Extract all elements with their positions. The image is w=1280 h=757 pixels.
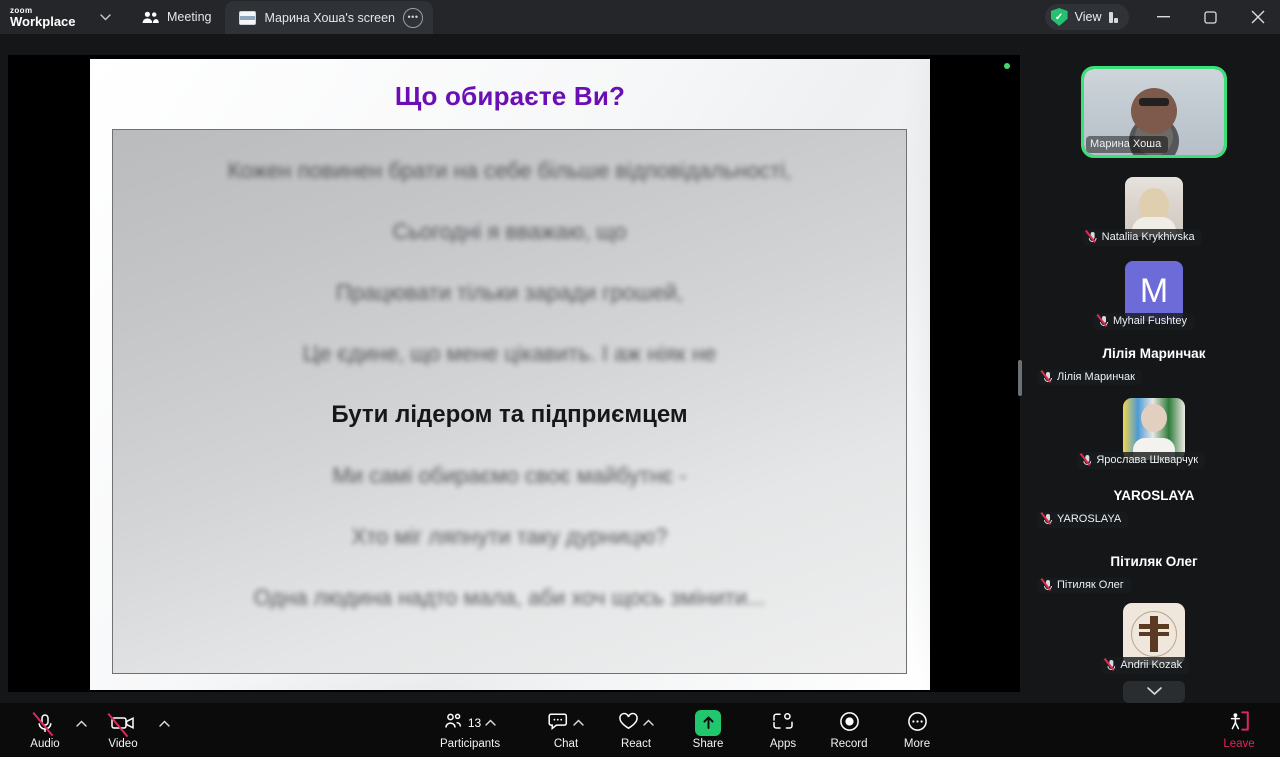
record-label: Record (830, 738, 867, 750)
slide-line: Одна людина надто мала, аби хоч щось змі… (113, 567, 906, 628)
heart-icon (618, 712, 639, 734)
close-button[interactable] (1235, 0, 1280, 34)
participant-name: Myhail Fushtey (1113, 315, 1187, 327)
participant-name-badge: Марина Хоша (1086, 136, 1168, 153)
participant-tile-andrii[interactable]: Andrii Kozak (1123, 603, 1185, 665)
participant-tile-yaroslava[interactable]: Ярослава Шкварчук (1123, 398, 1185, 460)
chat-options-chevron-icon[interactable] (573, 717, 584, 729)
window-controls: ✓ View (1045, 0, 1280, 34)
video-button[interactable]: Video (100, 703, 146, 757)
leave-label: Leave (1223, 738, 1254, 750)
more-button[interactable]: More (894, 703, 940, 757)
participant-name: Пітиляк Олег (1057, 579, 1124, 591)
participant-header-yaroslaya: YAROSLAYA (1028, 488, 1280, 503)
participants-icon (444, 713, 464, 732)
slide-body: Кожен повинен брати на себе більше відпо… (112, 129, 907, 674)
slide-line: Працювати тільки заради грошей, (113, 262, 906, 323)
mute-icon (1043, 371, 1053, 383)
leave-meeting-icon (1227, 711, 1251, 734)
more-label: More (904, 738, 930, 750)
tab-meeting[interactable]: Meeting (128, 0, 225, 34)
slide-line: Сьогодні я вважаю, що (113, 201, 906, 262)
audio-options-chevron-icon[interactable] (58, 711, 104, 735)
zoom-meeting-window: zoom Workplace Meeting Марина Хоша's scr… (0, 0, 1280, 757)
participant-header-liliia: Лілія Маринчак (1028, 346, 1280, 361)
record-icon (839, 711, 860, 735)
view-label: View (1075, 10, 1102, 24)
participant-name-badge: Лілія Маринчак (1038, 370, 1142, 385)
participants-button[interactable]: 13 Participants (440, 703, 500, 757)
video-feed (1125, 177, 1183, 237)
video-thumbnail[interactable]: Марина Хоша (1084, 69, 1224, 155)
react-label: React (621, 738, 651, 750)
record-button[interactable]: Record (826, 703, 872, 757)
chevron-down-icon[interactable] (92, 0, 118, 34)
share-button[interactable]: Share (685, 703, 731, 757)
microphone-muted-icon (36, 713, 54, 733)
presentation-slide: Що обираєте Ви? Кожен повинен брати на с… (90, 59, 930, 690)
tab-screen-share-label: Марина Хоша's screen (264, 11, 395, 25)
title-bar: zoom Workplace Meeting Марина Хоша's scr… (0, 0, 1280, 34)
participant-name: Лілія Маринчак (1057, 371, 1135, 383)
participant-header-pitiliak: Пітиляк Олег (1028, 554, 1280, 569)
participant-name: Nataliia Krykhivska (1102, 231, 1195, 243)
participant-name-badge: Пітиляк Олег (1038, 578, 1131, 593)
video-label: Video (108, 738, 137, 750)
brand-workplace-text: Workplace (10, 15, 92, 29)
participant-name: Марина Хоша (1090, 138, 1161, 150)
apps-icon (772, 712, 794, 733)
maximize-button[interactable] (1188, 0, 1233, 34)
participant-name-badge: Nataliia Krykhivska (1083, 229, 1202, 246)
green-dot-icon (1004, 63, 1010, 69)
avatar-thumbnail[interactable]: M (1125, 261, 1183, 321)
layout-grid-icon (1109, 12, 1119, 23)
rail-scroll-down-button[interactable] (1123, 681, 1185, 703)
mute-icon (1082, 454, 1092, 466)
participant-name: YAROSLAYA (1057, 513, 1121, 525)
mute-icon (1088, 231, 1098, 243)
chat-label: Chat (554, 738, 578, 750)
tab-options-kebab-icon[interactable]: ••• (403, 8, 423, 28)
mute-icon (1106, 659, 1116, 671)
scrollbar-thumb[interactable] (1018, 360, 1022, 396)
slide-line: Ми самі обираємо своє майбутнє - (113, 445, 906, 506)
slide-line: Це єдине, що мене цікавить. І аж ніяк не (113, 323, 906, 384)
screen-share-icon (239, 11, 256, 25)
people-icon (142, 11, 159, 24)
slide-line: Кожен повинен брати на себе більше відпо… (113, 140, 906, 201)
participant-name-badge: Myhail Fushtey (1094, 313, 1194, 330)
chat-button[interactable]: Chat (543, 703, 589, 757)
stage-scrollbar[interactable] (1016, 55, 1024, 692)
shared-screen-stage[interactable]: Що обираєте Ви? Кожен повинен брати на с… (8, 55, 1020, 692)
shield-icon: ✓ (1051, 8, 1068, 26)
react-options-chevron-icon[interactable] (643, 717, 654, 729)
participants-options-chevron-icon[interactable] (485, 717, 496, 729)
avatar-image (1123, 603, 1185, 665)
participant-name: Andrii Kozak (1120, 659, 1182, 671)
view-selector[interactable]: ✓ View (1045, 4, 1129, 30)
mute-icon (1043, 579, 1053, 591)
slide-line-focused: Бути лідером та підприємцем (113, 384, 906, 445)
react-button[interactable]: React (613, 703, 659, 757)
mute-icon (1099, 315, 1109, 327)
share-screen-icon (695, 710, 721, 736)
participant-name-badge: Ярослава Шкварчук (1077, 452, 1205, 469)
chat-icon (548, 712, 569, 734)
apps-button[interactable]: Apps (760, 703, 806, 757)
leave-button[interactable]: Leave (1216, 703, 1262, 757)
more-icon (907, 711, 928, 735)
video-feed (1123, 398, 1185, 460)
meeting-toolbar: Audio Video (0, 703, 1280, 757)
zoom-brand-logo: zoom Workplace (0, 0, 92, 34)
video-thumbnail[interactable] (1123, 398, 1185, 460)
participant-tile-myhail[interactable]: M Myhail Fushtey (1125, 261, 1183, 321)
participant-tile-nataliia[interactable]: Nataliia Krykhivska (1125, 177, 1183, 237)
mute-icon (1043, 513, 1053, 525)
participant-tile-marina[interactable]: Марина Хоша (1084, 69, 1224, 155)
slide-title: Що обираєте Ви? (90, 81, 930, 112)
avatar-thumbnail[interactable] (1123, 603, 1185, 665)
participants-rail[interactable]: Марина Хоша Nataliia Krykhivska M Myhail… (1028, 55, 1280, 703)
slide-line: Хто міг ляпнути таку дурницю? (113, 506, 906, 567)
participants-count: 13 (468, 716, 481, 730)
participant-name-badge: Andrii Kozak (1101, 657, 1189, 674)
share-label: Share (693, 738, 724, 750)
participant-name-badge: YAROSLAYA (1038, 512, 1128, 527)
minimize-button[interactable] (1141, 0, 1186, 34)
video-options-chevron-icon[interactable] (141, 711, 187, 735)
participant-name: Ярослава Шкварчук (1096, 454, 1198, 466)
tab-meeting-label: Meeting (167, 10, 211, 24)
participants-label: Participants (440, 738, 500, 750)
apps-label: Apps (770, 738, 796, 750)
video-thumbnail[interactable] (1125, 177, 1183, 237)
audio-label: Audio (30, 738, 59, 750)
avatar: M (1125, 261, 1183, 321)
tab-screen-share[interactable]: Марина Хоша's screen ••• (225, 1, 433, 34)
camera-muted-icon (111, 714, 135, 732)
